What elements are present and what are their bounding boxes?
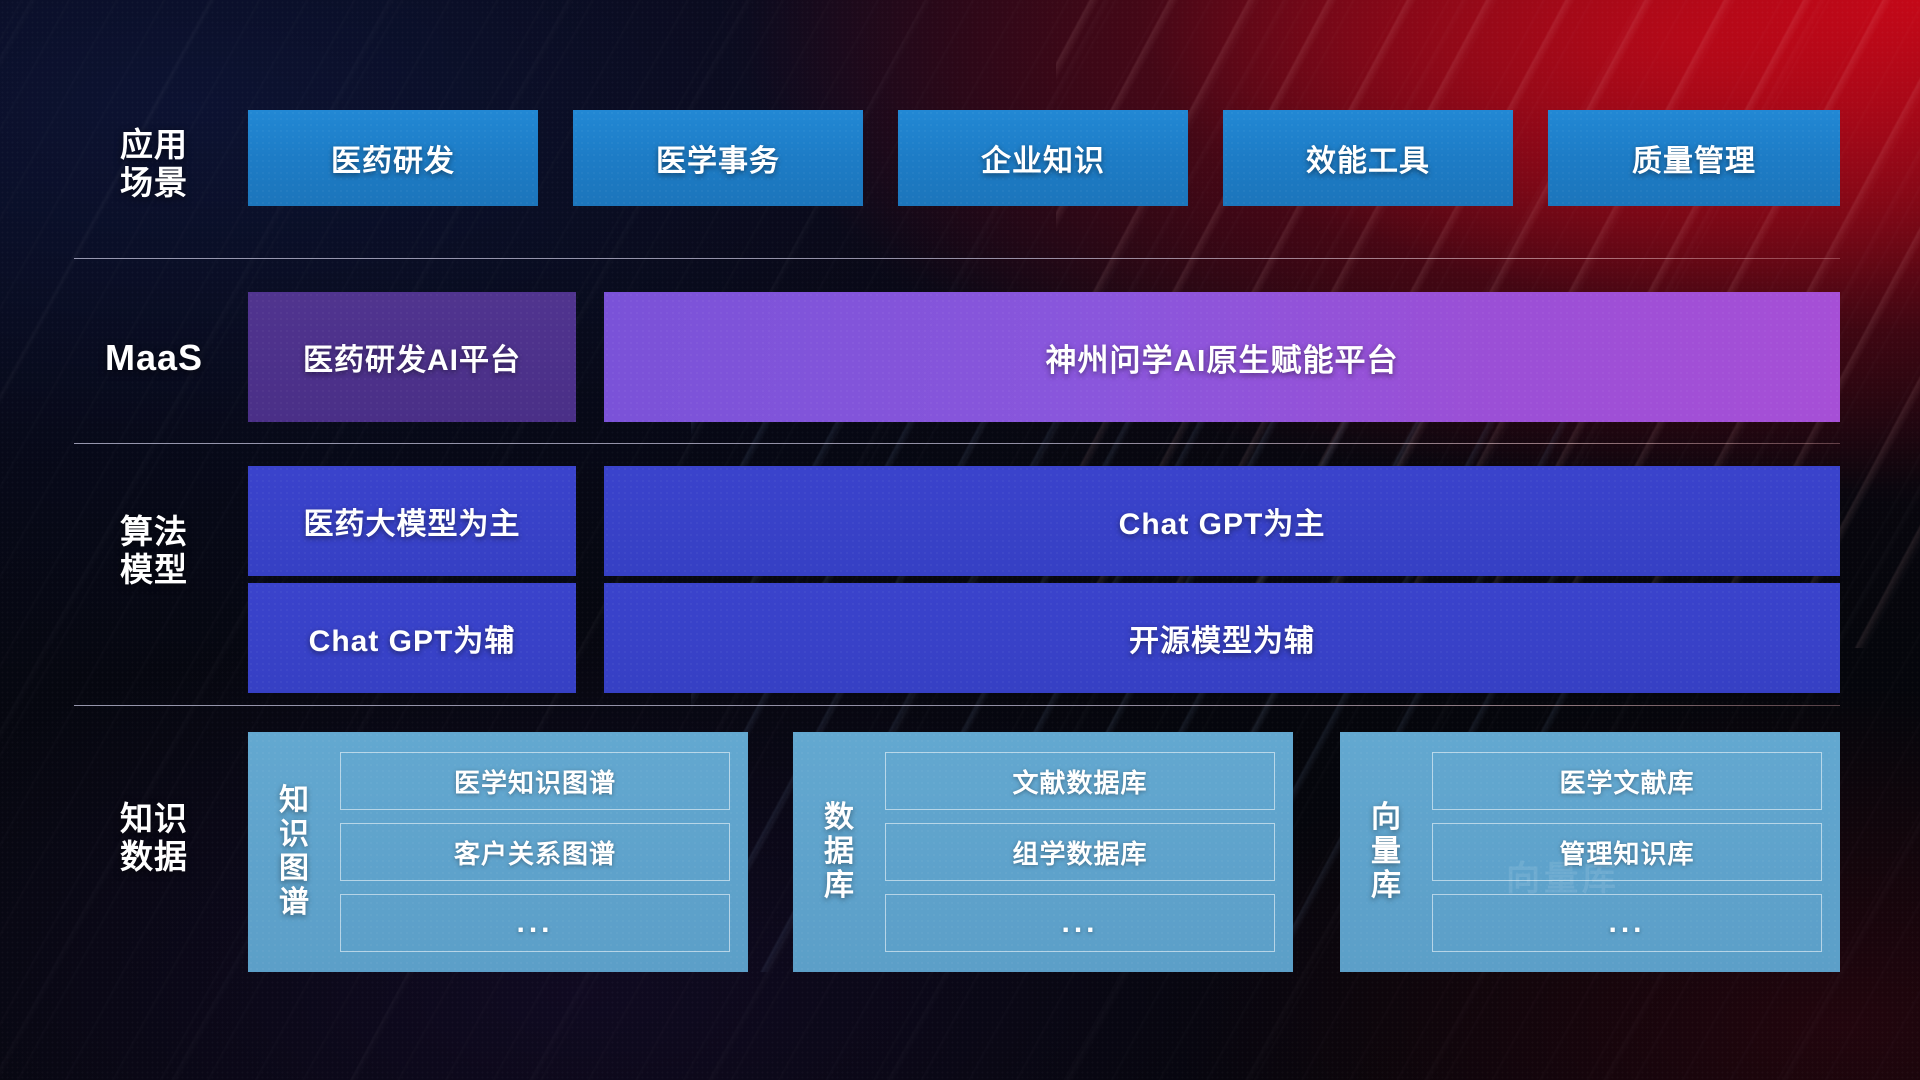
divider-2 [74, 443, 1840, 444]
app-scenario-label-3: 企业知识 [981, 136, 1105, 180]
knowledge-item[interactable]: 文献数据库 [885, 752, 1275, 810]
algorithm-label-1: 医药大模型为主 [304, 499, 521, 543]
maas-platform-label: 医药研发AI平台 [303, 335, 521, 379]
row-label-algorithm-model: 算法 模型 [74, 513, 234, 588]
knowledge-item-more[interactable]: ... [885, 894, 1275, 952]
algorithm-cell-2[interactable]: Chat GPT为主 [604, 466, 1840, 576]
maas-enable-platform-box[interactable]: 神州问学AI原生赋能平台 [604, 292, 1840, 422]
row-label-knowledge-data: 知识 数据 [74, 800, 234, 875]
algorithm-label-4: 开源模型为辅 [1129, 616, 1315, 660]
algorithm-cell-3[interactable]: Chat GPT为辅 [248, 583, 576, 693]
app-scenario-box-2[interactable]: 医学事务 [573, 110, 863, 206]
knowledge-group-vector-items: 医学文献库 管理知识库 ... [1432, 738, 1840, 966]
knowledge-group-graph[interactable]: 知 识 图 谱 医学知识图谱 客户关系图谱 ... [248, 732, 748, 972]
app-scenario-label-2: 医学事务 [656, 136, 780, 180]
maas-enable-platform-label: 神州问学AI原生赋能平台 [1046, 335, 1399, 380]
knowledge-item-more[interactable]: ... [340, 894, 730, 952]
algorithm-label-2: Chat GPT为主 [1119, 499, 1326, 543]
knowledge-item[interactable]: 医学知识图谱 [340, 752, 730, 810]
knowledge-item[interactable]: 管理知识库 [1432, 823, 1822, 881]
knowledge-group-graph-items: 医学知识图谱 客户关系图谱 ... [340, 738, 748, 966]
app-scenario-box-1[interactable]: 医药研发 [248, 110, 538, 206]
knowledge-item[interactable]: 组学数据库 [885, 823, 1275, 881]
knowledge-item[interactable]: 医学文献库 [1432, 752, 1822, 810]
row-label-application-scenarios: 应用 场景 [74, 126, 234, 201]
app-scenario-label-1: 医药研发 [331, 136, 455, 180]
diagram-canvas: 应用 场景 医药研发 医学事务 企业知识 效能工具 质量管理 MaaS 医药研发… [0, 0, 1920, 1080]
knowledge-group-vector[interactable]: 向 量 库 医学文献库 管理知识库 ... [1340, 732, 1840, 972]
algorithm-cell-1[interactable]: 医药大模型为主 [248, 466, 576, 576]
app-scenario-label-5: 质量管理 [1632, 136, 1756, 180]
knowledge-group-database-items: 文献数据库 组学数据库 ... [885, 738, 1293, 966]
maas-platform-box[interactable]: 医药研发AI平台 [248, 292, 576, 422]
app-scenario-box-4[interactable]: 效能工具 [1223, 110, 1513, 206]
divider-1 [74, 258, 1840, 259]
knowledge-item-more[interactable]: ... [1432, 894, 1822, 952]
divider-3 [74, 705, 1840, 706]
row-label-maas: MaaS [74, 337, 234, 378]
app-scenario-box-5[interactable]: 质量管理 [1548, 110, 1840, 206]
app-scenario-box-3[interactable]: 企业知识 [898, 110, 1188, 206]
algorithm-cell-4[interactable]: 开源模型为辅 [604, 583, 1840, 693]
knowledge-group-database[interactable]: 数 据 库 文献数据库 组学数据库 ... [793, 732, 1293, 972]
algorithm-label-3: Chat GPT为辅 [309, 616, 516, 660]
knowledge-group-vector-title: 向 量 库 [1340, 801, 1432, 903]
knowledge-group-database-title: 数 据 库 [793, 801, 885, 903]
knowledge-item[interactable]: 客户关系图谱 [340, 823, 730, 881]
app-scenario-label-4: 效能工具 [1306, 136, 1430, 180]
knowledge-group-graph-title: 知 识 图 谱 [248, 784, 340, 920]
